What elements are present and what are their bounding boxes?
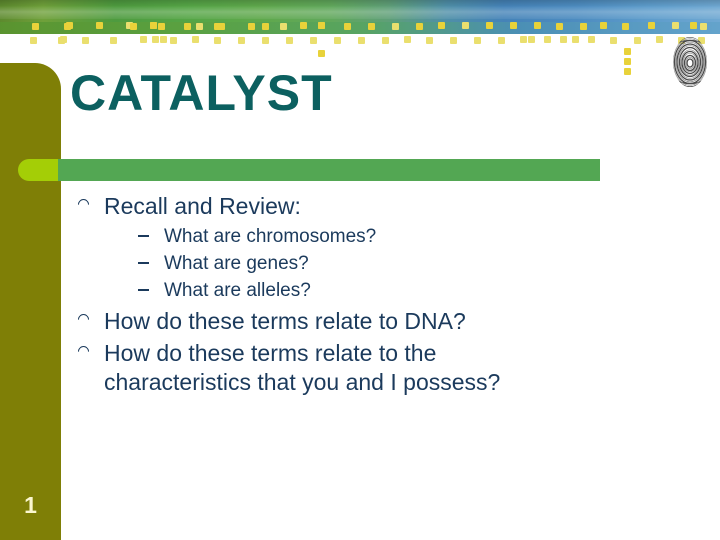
arc-bullet-icon bbox=[76, 344, 92, 360]
bullet-text: How do these terms relate to the bbox=[104, 340, 436, 366]
sub-bullet-item: What are alleles? bbox=[104, 277, 678, 304]
slide-number: 1 bbox=[0, 492, 61, 519]
yellow-dot-pattern-upper bbox=[0, 22, 720, 31]
arc-bullet-icon bbox=[76, 197, 92, 213]
sub-bullet-item: What are genes? bbox=[104, 250, 678, 277]
banner-sheen bbox=[0, 6, 720, 19]
bullet-item: How do these terms relate to the charact… bbox=[78, 339, 678, 397]
bullet-item: Recall and Review: What are chromosomes?… bbox=[78, 192, 678, 304]
presentation-slide: 1 CATALYST Recall and Review: What are c… bbox=[0, 0, 720, 540]
sub-bullet-text: What are chromosomes? bbox=[164, 226, 376, 247]
dash-bullet-icon bbox=[138, 235, 149, 237]
yellow-dot-pattern-lower bbox=[0, 36, 720, 45]
page-title: CATALYST bbox=[70, 68, 333, 118]
title-underline-bar bbox=[51, 159, 600, 181]
bullet-item: How do these terms relate to DNA? bbox=[78, 307, 678, 336]
sub-bullet-text: What are alleles? bbox=[164, 280, 311, 301]
arc-bullet-icon bbox=[76, 312, 92, 328]
sub-bullet-item: What are chromosomes? bbox=[104, 223, 678, 250]
bullet-text: How do these terms relate to DNA? bbox=[104, 308, 466, 334]
sub-bullet-text: What are genes? bbox=[164, 253, 309, 274]
dash-bullet-icon bbox=[138, 289, 149, 291]
sub-bullet-list: What are chromosomes? What are genes? Wh… bbox=[104, 223, 678, 304]
left-sidebar-accent bbox=[0, 63, 61, 540]
title-underline-cap bbox=[18, 159, 58, 181]
slide-body: Recall and Review: What are chromosomes?… bbox=[78, 192, 678, 400]
bullet-text: Recall and Review: bbox=[104, 193, 301, 219]
bullet-text-continuation: characteristics that you and I possess? bbox=[104, 368, 678, 397]
dash-bullet-icon bbox=[138, 262, 149, 264]
fingerprint-icon bbox=[669, 34, 711, 89]
